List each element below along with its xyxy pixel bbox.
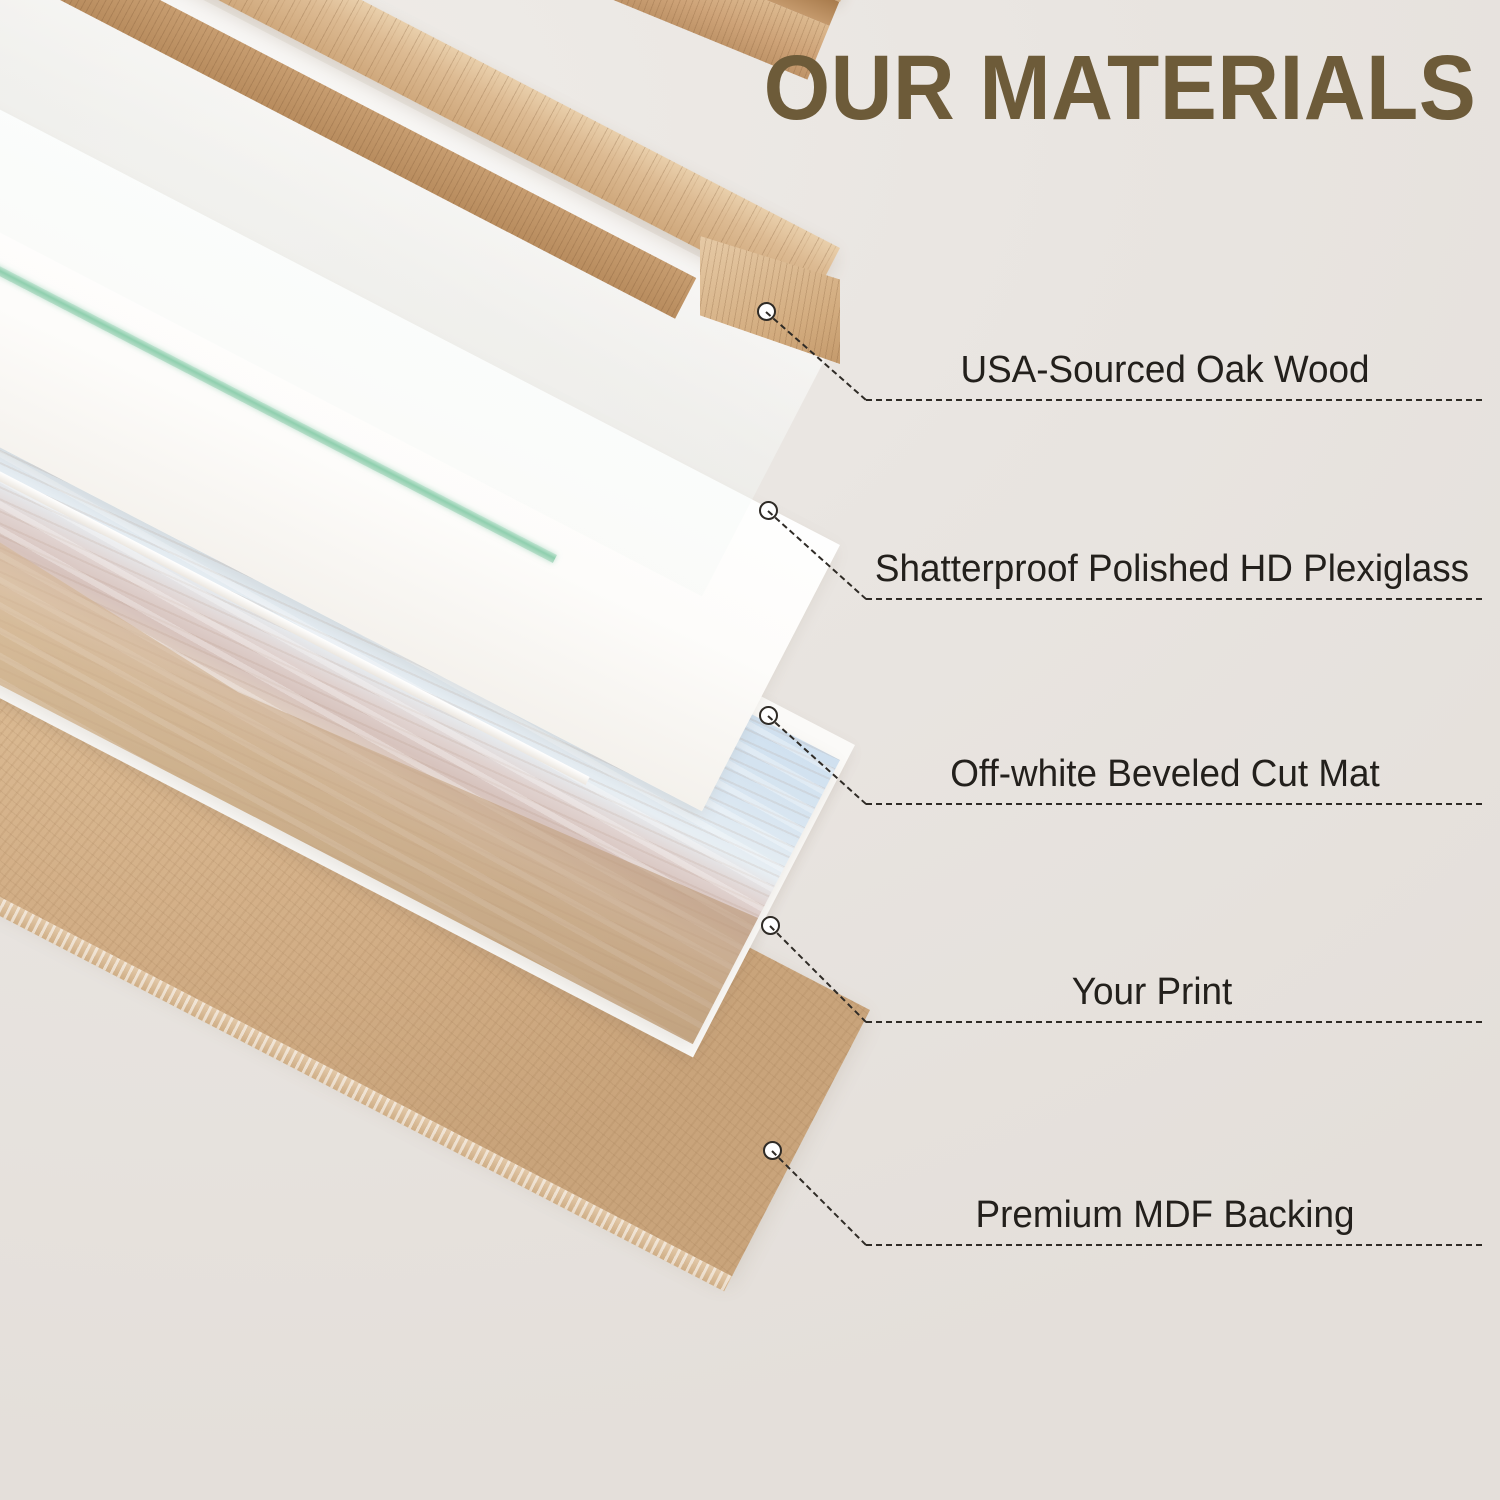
callout-label-mat: Off-white Beveled Cut Mat <box>950 753 1380 796</box>
callout-rule-mat <box>866 803 1482 805</box>
callout-rule-plexiglass <box>866 598 1482 600</box>
callout-rule-print <box>866 1021 1482 1023</box>
callout-rule-oak-wood <box>866 399 1482 401</box>
callout-label-print: Your Print <box>1072 971 1233 1014</box>
product-exploded-view <box>0 0 900 1500</box>
page-title: OUR MATERIALS <box>763 42 1476 134</box>
callout-rule-mdf-backing <box>866 1244 1482 1246</box>
callout-label-mdf-backing: Premium MDF Backing <box>976 1194 1355 1237</box>
materials-infographic: OUR MATERIALS USA-Sourced Oak WoodShatte… <box>0 0 1500 1500</box>
callout-label-oak-wood: USA-Sourced Oak Wood <box>960 349 1369 392</box>
callout-label-plexiglass: Shatterproof Polished HD Plexiglass <box>875 548 1469 591</box>
